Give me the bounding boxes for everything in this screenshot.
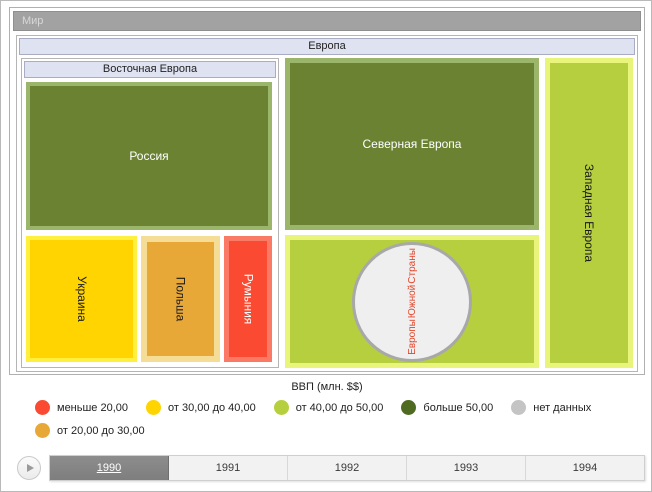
node-cell-romania[interactable]: Румыния — [224, 236, 272, 362]
legend-item-2[interactable]: от 40,00 до 50,00 — [274, 399, 384, 416]
timeline-tick-1990[interactable]: 1990 — [50, 456, 169, 480]
legend-swatch-icon — [511, 400, 526, 415]
node-label-north-europe: Северная Европа — [363, 137, 462, 151]
treemap-app: Мир Европа Восточная Европа Россия Украи… — [0, 0, 652, 492]
legend-swatch-icon — [401, 400, 416, 415]
node-cell-poland[interactable]: Польша — [141, 236, 220, 362]
legend-label: больше 50,00 — [423, 402, 493, 414]
legend: ВВП (млн. $$) меньше 20,00 от 30,00 до 4… — [9, 381, 645, 443]
node-label-russia: Россия — [129, 149, 168, 163]
legend-label: нет данных — [533, 402, 591, 414]
legend-swatch-icon — [274, 400, 289, 415]
node-cell-south-europe[interactable]: Страны Южной Европы — [285, 235, 539, 368]
treemap-canvas: Мир Европа Восточная Европа Россия Украи… — [9, 7, 645, 375]
legend-item-1[interactable]: от 30,00 до 40,00 — [146, 399, 256, 416]
legend-item-0[interactable]: меньше 20,00 — [35, 399, 128, 416]
node-cell-ukraine[interactable]: Украина — [26, 236, 137, 362]
legend-label: от 40,00 до 50,00 — [296, 402, 384, 414]
timeline-tick-1992[interactable]: 1992 — [288, 456, 407, 480]
timeline-tick-1993[interactable]: 1993 — [407, 456, 526, 480]
legend-label: меньше 20,00 — [57, 402, 128, 414]
node-label-west-europe: Западная Европа — [582, 164, 596, 262]
south-europe-line-2: Южной — [406, 285, 417, 318]
node-header-world[interactable]: Мир — [13, 11, 641, 31]
node-marker-circle-south-europe[interactable]: Страны Южной Европы — [352, 242, 472, 362]
legend-title: ВВП (млн. $$) — [9, 381, 645, 393]
node-label-south-europe: Страны Южной Европы — [406, 248, 417, 355]
node-header-europe[interactable]: Европа — [19, 38, 635, 55]
node-cell-west-europe[interactable]: Западная Европа — [545, 58, 633, 368]
node-cell-russia[interactable]: Россия — [26, 82, 272, 230]
node-group-europe: Европа Восточная Европа Россия Украина П… — [16, 35, 638, 372]
legend-items: меньше 20,00 от 30,00 до 40,00 от 40,00 … — [9, 399, 645, 439]
timeline-tick-1991[interactable]: 1991 — [169, 456, 288, 480]
legend-swatch-icon — [35, 423, 50, 438]
legend-item-4[interactable]: нет данных — [511, 399, 591, 416]
node-header-east-europe[interactable]: Восточная Европа — [24, 61, 276, 78]
south-europe-line-1: Страны — [406, 248, 417, 284]
timeline: 1990 1991 1992 1993 1994 — [9, 451, 645, 485]
play-triangle-icon — [27, 464, 34, 472]
legend-label: от 30,00 до 40,00 — [168, 402, 256, 414]
node-cell-north-europe[interactable]: Северная Европа — [285, 58, 539, 230]
legend-label: от 20,00 до 30,00 — [57, 425, 145, 437]
south-europe-line-3: Европы — [406, 319, 417, 355]
node-group-east-europe: Восточная Европа Россия Украина Польша Р… — [21, 58, 279, 368]
legend-swatch-icon — [35, 400, 50, 415]
legend-swatch-icon — [146, 400, 161, 415]
timeline-slider[interactable]: 1990 1991 1992 1993 1994 — [49, 455, 645, 481]
node-label-romania: Румыния — [241, 274, 255, 325]
node-label-poland: Польша — [174, 277, 188, 322]
node-label-ukraine: Украина — [75, 276, 89, 322]
play-icon[interactable] — [17, 456, 41, 480]
timeline-tick-1994[interactable]: 1994 — [526, 456, 644, 480]
legend-item-3[interactable]: больше 50,00 — [401, 399, 493, 416]
legend-item-5[interactable]: от 20,00 до 30,00 — [35, 422, 145, 439]
